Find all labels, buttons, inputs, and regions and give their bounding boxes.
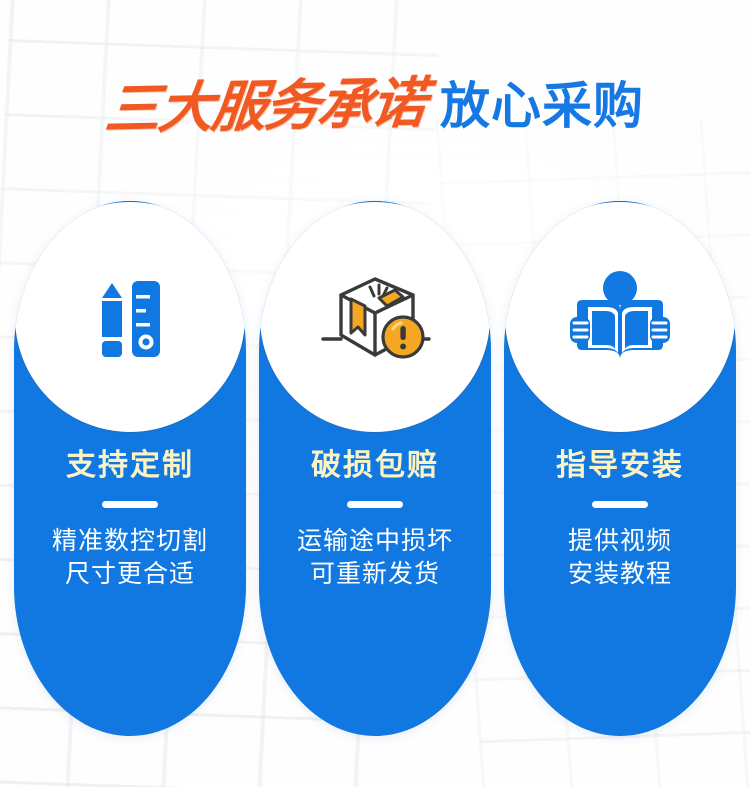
service-card-customization[interactable]: 支持定制 精准数控切割 尺寸更合适 [14, 201, 246, 736]
card-text-block: 破损包赔 运输途中损坏 可重新发货 [259, 449, 491, 591]
service-card-damage-compensation[interactable]: 破损包赔 运输途中损坏 可重新发货 [259, 201, 491, 736]
service-card-installation-guide[interactable]: 指导安装 提供视频 安装教程 [504, 201, 736, 736]
card-desc-line-2: 安装教程 [504, 558, 736, 591]
card-desc-line-2: 尺寸更合适 [14, 558, 246, 591]
card-icon-circle [259, 201, 491, 433]
card-title: 破损包赔 [259, 449, 491, 482]
heading-brush-text: 三大服务承诺 [103, 75, 427, 137]
card-title: 指导安装 [504, 449, 736, 482]
card-text-block: 指导安装 提供视频 安装教程 [504, 449, 736, 591]
heading-blue-text: 放心采购 [440, 81, 644, 131]
card-icon-circle [504, 201, 736, 433]
promo-banner: 三大服务承诺放心采购 [0, 0, 750, 787]
card-desc-line-2: 可重新发货 [259, 558, 491, 591]
card-text-block: 支持定制 精准数控切割 尺寸更合适 [14, 449, 246, 591]
card-divider [102, 501, 158, 508]
banner-heading: 三大服务承诺放心采购 [0, 78, 750, 133]
damaged-box-warning-icon [315, 263, 435, 371]
card-title: 支持定制 [14, 449, 246, 482]
card-divider [347, 501, 403, 508]
pencil-ruler-icon [70, 263, 190, 371]
card-desc-line-1: 精准数控切割 [14, 525, 246, 558]
card-divider [592, 501, 648, 508]
card-desc-line-1: 提供视频 [504, 525, 736, 558]
person-reading-book-icon [560, 263, 680, 371]
card-icon-circle [14, 201, 246, 433]
service-card-list: 支持定制 精准数控切割 尺寸更合适 [14, 201, 736, 736]
card-desc-line-1: 运输途中损坏 [259, 525, 491, 558]
